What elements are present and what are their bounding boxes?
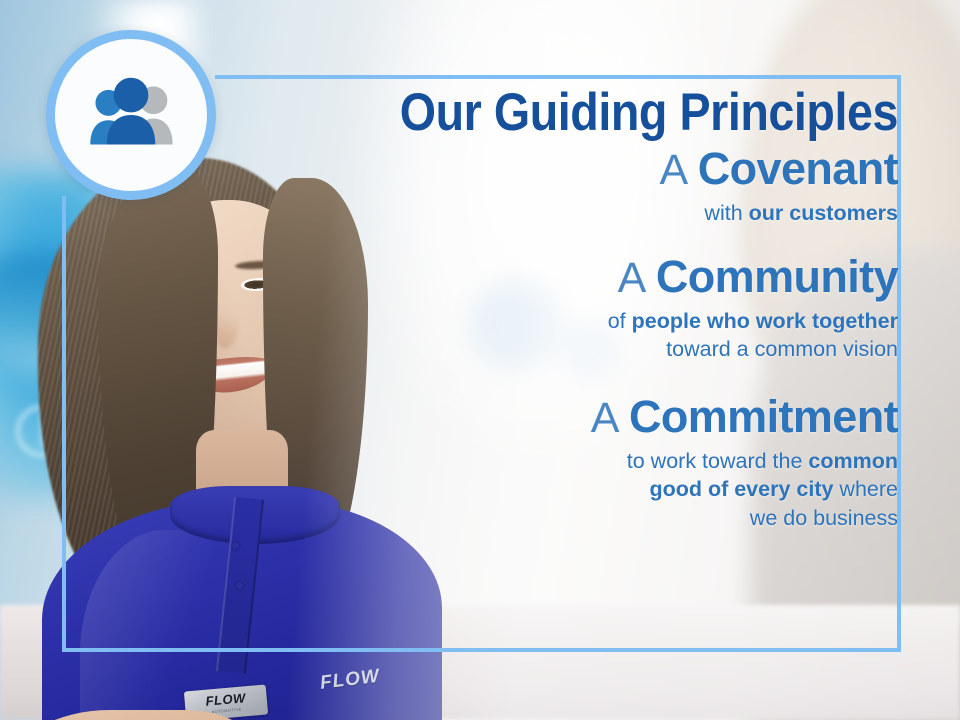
principle-lead-article: A bbox=[618, 254, 656, 302]
principle-title-commitment: A Commitment bbox=[238, 393, 898, 442]
emphasized-text: common bbox=[808, 449, 898, 473]
principle-keyword: Commitment bbox=[629, 391, 898, 442]
regular-text: of bbox=[608, 309, 632, 333]
frame-border-top bbox=[215, 75, 901, 79]
regular-text: we do business bbox=[750, 506, 898, 530]
principle-title-community: A Community bbox=[238, 253, 898, 302]
frame-border-left bbox=[62, 196, 66, 652]
principle-description-line: to work toward the common bbox=[238, 447, 898, 475]
emphasized-text: good of every city bbox=[649, 477, 833, 501]
principle-commitment: A Commitmentto work toward the commongoo… bbox=[238, 393, 898, 532]
people-group-icon bbox=[79, 63, 183, 167]
principle-description-commitment: to work toward the commongood of every c… bbox=[238, 447, 898, 532]
guiding-principles-graphic: FLOW FLOW AUTOMOTIVE bbox=[0, 0, 960, 720]
regular-text: with bbox=[704, 201, 748, 225]
emphasized-text: our customers bbox=[749, 201, 898, 225]
principle-description-line: good of every city where bbox=[238, 475, 898, 503]
emphasized-text: people who work together bbox=[632, 309, 898, 333]
principle-keyword: Community bbox=[656, 251, 898, 302]
page-title: Our Guiding Principles bbox=[317, 86, 898, 139]
principle-covenant: A Covenantwith our customers bbox=[238, 145, 898, 227]
principle-keyword: Covenant bbox=[698, 143, 898, 194]
principle-title-covenant: A Covenant bbox=[238, 145, 898, 194]
principle-description-line: we do business bbox=[238, 504, 898, 532]
principle-lead-article: A bbox=[591, 394, 629, 442]
regular-text: to work toward the bbox=[627, 449, 809, 473]
principle-community: A Communityof people who work togetherto… bbox=[238, 253, 898, 363]
principle-description-covenant: with our customers bbox=[238, 199, 898, 227]
principle-description-line: of people who work together bbox=[238, 307, 898, 335]
principle-description-line: with our customers bbox=[238, 199, 898, 227]
people-group-badge bbox=[46, 30, 216, 200]
frame-border-bottom bbox=[62, 648, 901, 652]
regular-text: toward a common vision bbox=[666, 337, 898, 361]
text-column: Our Guiding Principles A Covenantwith ou… bbox=[238, 86, 898, 532]
principle-description-community: of people who work togethertoward a comm… bbox=[238, 307, 898, 364]
regular-text: where bbox=[833, 477, 898, 501]
principle-lead-article: A bbox=[660, 146, 698, 194]
principle-description-line: toward a common vision bbox=[238, 335, 898, 363]
